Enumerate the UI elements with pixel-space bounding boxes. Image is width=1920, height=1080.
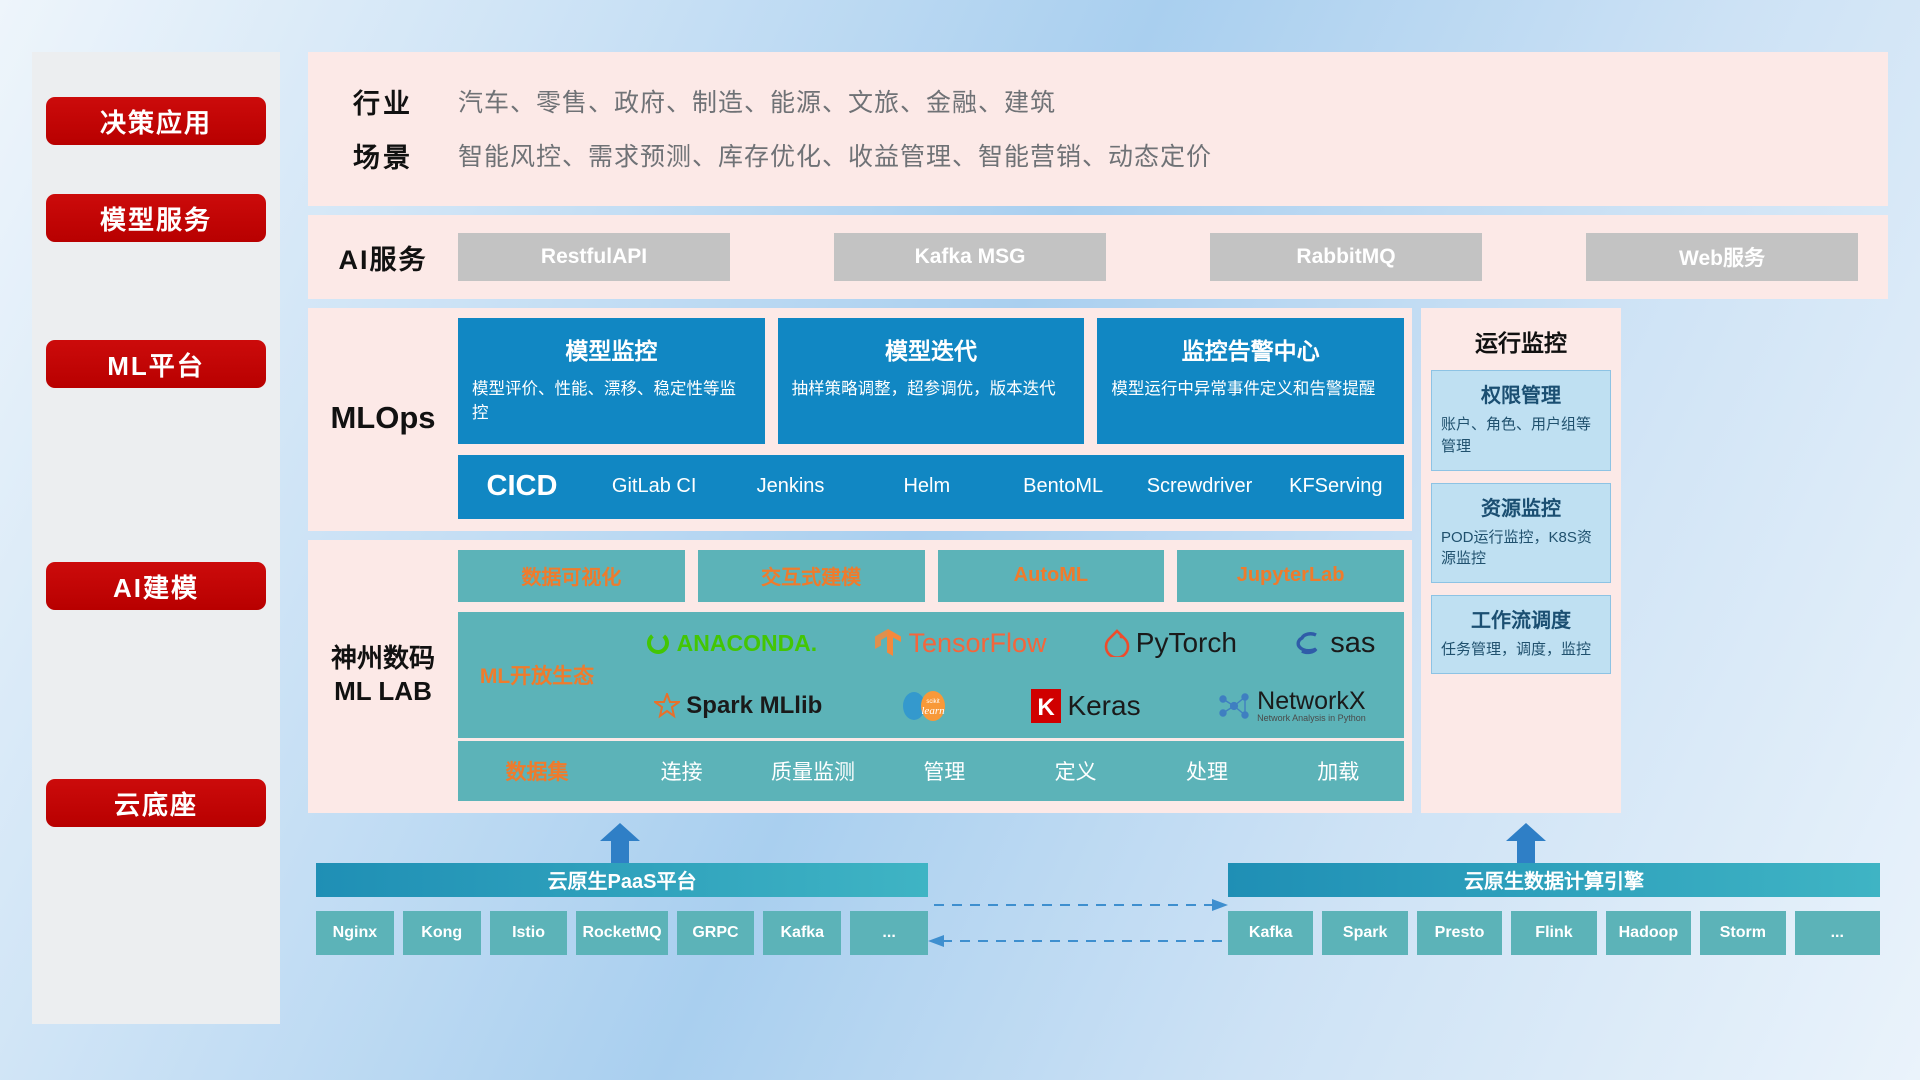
logo-row-2: Spark MLlib scikit learn — [616, 675, 1404, 738]
paas-chip-istio[interactable]: Istio — [490, 911, 568, 955]
svg-text:K: K — [1038, 694, 1056, 721]
ml-eco-section: ML开放生态 ANACONDA. — [458, 612, 1404, 738]
keras-icon: K — [1031, 689, 1061, 723]
mlops-card-title: 模型迭代 — [792, 332, 1071, 366]
monitor-card-resources[interactable]: 资源监控 POD运行监控，K8S资源监控 — [1431, 483, 1611, 584]
tab-interactive-modeling[interactable]: 交互式建模 — [698, 550, 925, 602]
monitor-card-title: 工作流调度 — [1441, 604, 1601, 633]
ai-service-key: AI服务 — [308, 238, 458, 277]
engine-title: 云原生数据计算引擎 — [1228, 863, 1880, 897]
cicd-item-screwdriver[interactable]: Screwdriver — [1131, 473, 1267, 500]
band-mlops: MLOps 模型监控 模型评价、性能、漂移、稳定性等监控 模型迭代 抽样策略调整… — [308, 308, 1412, 531]
industry-value: 汽车、零售、政府、制造、能源、文旅、金融、建筑 — [458, 83, 1056, 119]
band-cloud-foundation: 云原生PaaS平台 Nginx Kong Istio RocketMQ GRPC… — [308, 827, 1888, 1003]
rail-item-2[interactable]: ML平台 — [46, 340, 266, 388]
mlops-key: MLOps — [308, 400, 458, 436]
rail-item-label: AI建模 — [113, 568, 199, 605]
dataset-item-load[interactable]: 加载 — [1273, 756, 1404, 786]
mlops-card-model-iteration[interactable]: 模型迭代 抽样策略调整，超参调优，版本迭代 — [778, 318, 1085, 444]
anaconda-label: ANACONDA. — [677, 630, 818, 657]
dataset-label: 数据集 — [458, 756, 616, 786]
paas-chips: Nginx Kong Istio RocketMQ GRPC Kafka ... — [316, 911, 928, 955]
mlops-card-desc: 抽样策略调整，超参调优，版本迭代 — [792, 378, 1071, 402]
rail-item-label: 决策应用 — [100, 103, 212, 140]
ml-eco-logos: ANACONDA. TensorFlow — [616, 612, 1404, 738]
band-ml-lab: 神州数码 ML LAB 数据可视化 交互式建模 AutoML JupyterLa… — [308, 540, 1412, 813]
monitor-card-desc: POD运行监控，K8S资源监控 — [1441, 527, 1601, 571]
sas-logo: sas — [1294, 627, 1375, 660]
engine-chip-kafka[interactable]: Kafka — [1228, 911, 1313, 955]
cicd-bar: CICD GitLab CI Jenkins Helm BentoML Scre… — [458, 455, 1404, 519]
paas-chip-nginx[interactable]: Nginx — [316, 911, 394, 955]
paas-chip-kong[interactable]: Kong — [403, 911, 481, 955]
monitor-card-desc: 账户、角色、用户组等管理 — [1441, 414, 1601, 458]
ml-lab-key-line1: 神州数码 — [308, 642, 458, 676]
mlops-card-desc: 模型运行中异常事件定义和告警提醒 — [1111, 378, 1390, 402]
paas-chip-grpc[interactable]: GRPC — [677, 911, 755, 955]
scikit-learn-icon: scikit learn — [899, 690, 955, 722]
monitor-card-title: 资源监控 — [1441, 492, 1601, 521]
sas-label: sas — [1330, 627, 1375, 660]
scenario-key: 场景 — [308, 136, 458, 175]
rail-item-4[interactable]: 云底座 — [46, 779, 266, 827]
mlops-card-title: 模型监控 — [472, 332, 751, 366]
paas-chip-more[interactable]: ... — [850, 911, 928, 955]
tab-jupyterlab[interactable]: JupyterLab — [1177, 550, 1404, 602]
industry-row: 行业 汽车、零售、政府、制造、能源、文旅、金融、建筑 — [308, 74, 1888, 128]
pytorch-logo: PyTorch — [1104, 627, 1237, 659]
engine-chip-flink[interactable]: Flink — [1511, 911, 1596, 955]
mlops-card-desc: 模型评价、性能、漂移、稳定性等监控 — [472, 378, 751, 426]
mlops-card-alert-center[interactable]: 监控告警中心 模型运行中异常事件定义和告警提醒 — [1097, 318, 1404, 444]
dataset-item-quality[interactable]: 质量监测 — [747, 756, 878, 786]
paas-chip-kafka[interactable]: Kafka — [763, 911, 841, 955]
rail-item-label: ML平台 — [107, 346, 205, 383]
cicd-item-helm[interactable]: Helm — [859, 473, 995, 500]
tab-data-visualization[interactable]: 数据可视化 — [458, 550, 685, 602]
industry-key: 行业 — [308, 82, 458, 121]
dataset-item-manage[interactable]: 管理 — [879, 756, 1010, 786]
dataset-bar: 数据集 连接 质量监测 管理 定义 处理 加载 — [458, 741, 1404, 801]
monitor-card-title: 权限管理 — [1441, 379, 1601, 408]
logo-row-1: ANACONDA. TensorFlow — [616, 612, 1404, 675]
monitor-card-permissions[interactable]: 权限管理 账户、角色、用户组等管理 — [1431, 370, 1611, 471]
ml-lab-body: 数据可视化 交互式建模 AutoML JupyterLab ML开放生态 — [458, 550, 1412, 801]
sas-icon — [1294, 629, 1324, 657]
main-column: 行业 汽车、零售、政府、制造、能源、文旅、金融、建筑 场景 智能风控、需求预测、… — [308, 52, 1888, 1003]
mlops-card-title: 监控告警中心 — [1111, 332, 1390, 366]
cicd-item-bentoml[interactable]: BentoML — [995, 473, 1131, 500]
engine-chip-storm[interactable]: Storm — [1700, 911, 1785, 955]
monitor-title: 运行监控 — [1431, 324, 1611, 358]
spark-star-icon — [654, 693, 680, 719]
cicd-item-gitlab-ci[interactable]: GitLab CI — [586, 473, 722, 500]
rail-item-label: 模型服务 — [100, 200, 212, 237]
ml-lab-tabs: 数据可视化 交互式建模 AutoML JupyterLab — [458, 550, 1404, 602]
engine-chip-more[interactable]: ... — [1795, 911, 1880, 955]
dataset-item-process[interactable]: 处理 — [1141, 756, 1272, 786]
engine-chips: Kafka Spark Presto Flink Hadoop Storm ..… — [1228, 911, 1880, 955]
dataset-item-connect[interactable]: 连接 — [616, 756, 747, 786]
rail-item-1[interactable]: 模型服务 — [46, 194, 266, 242]
band-ai-service: AI服务 RestfulAPI Kafka MSG RabbitMQ Web服务 — [308, 215, 1888, 299]
pytorch-label: PyTorch — [1136, 627, 1237, 659]
cicd-item-kfserving[interactable]: KFServing — [1268, 473, 1404, 500]
ai-service-chip-web[interactable]: Web服务 — [1586, 233, 1858, 281]
networkx-logo: NetworkX Network Analysis in Python — [1217, 689, 1366, 723]
anaconda-logo: ANACONDA. — [645, 630, 818, 657]
cicd-title: CICD — [458, 470, 586, 503]
tab-automl[interactable]: AutoML — [938, 550, 1165, 602]
ml-eco-label: ML开放生态 — [458, 660, 616, 690]
anaconda-icon — [645, 630, 671, 656]
keras-label: Keras — [1067, 690, 1140, 722]
rail-item-0[interactable]: 决策应用 — [46, 97, 266, 145]
rail-item-label: 云底座 — [114, 785, 198, 822]
cicd-item-jenkins[interactable]: Jenkins — [722, 473, 858, 500]
ai-service-chip-restfulapi[interactable]: RestfulAPI — [458, 233, 730, 281]
mlops-cards: 模型监控 模型评价、性能、漂移、稳定性等监控 模型迭代 抽样策略调整，超参调优，… — [458, 318, 1404, 444]
engine-chip-spark[interactable]: Spark — [1322, 911, 1407, 955]
pytorch-icon — [1104, 629, 1130, 657]
dataset-item-define[interactable]: 定义 — [1010, 756, 1141, 786]
paas-chip-rocketmq[interactable]: RocketMQ — [576, 911, 667, 955]
tensorflow-label: TensorFlow — [908, 628, 1046, 659]
paas-title: 云原生PaaS平台 — [316, 863, 928, 897]
ml-lab-key-line2: ML LAB — [308, 675, 458, 709]
ml-lab-key: 神州数码 ML LAB — [308, 642, 458, 710]
networkx-label: NetworkX — [1257, 689, 1366, 714]
left-rail: 决策应用 模型服务 ML平台 AI建模 云底座 — [32, 52, 280, 1024]
mlops-body: 模型监控 模型评价、性能、漂移、稳定性等监控 模型迭代 抽样策略调整，超参调优，… — [458, 318, 1412, 519]
ai-service-chip-rabbitmq[interactable]: RabbitMQ — [1210, 233, 1482, 281]
monitor-card-workflow[interactable]: 工作流调度 任务管理，调度，监控 — [1431, 595, 1611, 674]
spark-mllib-label: Spark MLlib — [686, 692, 822, 720]
ai-service-chip-kafka-msg[interactable]: Kafka MSG — [834, 233, 1106, 281]
engine-chip-presto[interactable]: Presto — [1417, 911, 1502, 955]
ai-service-items: RestfulAPI Kafka MSG RabbitMQ Web服务 — [458, 233, 1888, 281]
tensorflow-logo: TensorFlow — [874, 628, 1046, 659]
band-decision-apps: 行业 汽车、零售、政府、制造、能源、文旅、金融、建筑 场景 智能风控、需求预测、… — [308, 52, 1888, 206]
cloud-group-paas: 云原生PaaS平台 Nginx Kong Istio RocketMQ GRPC… — [316, 863, 928, 955]
arrow-up-engine-icon — [1504, 823, 1548, 863]
cloud-group-engine: 云原生数据计算引擎 Kafka Spark Presto Flink Hadoo… — [1228, 863, 1880, 955]
engine-chip-hadoop[interactable]: Hadoop — [1606, 911, 1691, 955]
spark-mllib-logo: Spark MLlib — [654, 692, 822, 720]
scikit-learn-logo: scikit learn — [899, 690, 955, 722]
svg-text:learn: learn — [921, 705, 945, 717]
arrow-up-paas-icon — [598, 823, 642, 863]
networkx-sublabel: Network Analysis in Python — [1257, 714, 1366, 723]
keras-logo: K Keras — [1031, 689, 1140, 723]
mlops-card-model-monitoring[interactable]: 模型监控 模型评价、性能、漂移、稳定性等监控 — [458, 318, 765, 444]
row-mlops-and-monitor: MLOps 模型监控 模型评价、性能、漂移、稳定性等监控 模型迭代 抽样策略调整… — [308, 308, 1888, 813]
rail-item-3[interactable]: AI建模 — [46, 562, 266, 610]
tensorflow-icon — [874, 628, 902, 658]
networkx-icon — [1217, 691, 1251, 721]
bidirectional-dashed-link-icon — [928, 891, 1228, 955]
monitor-card-desc: 任务管理，调度，监控 — [1441, 639, 1601, 661]
monitor-column: 运行监控 权限管理 账户、角色、用户组等管理 资源监控 POD运行监控，K8S资… — [1421, 308, 1621, 813]
scenario-row: 场景 智能风控、需求预测、库存优化、收益管理、智能营销、动态定价 — [308, 128, 1888, 182]
scenario-value: 智能风控、需求预测、库存优化、收益管理、智能营销、动态定价 — [458, 137, 1212, 173]
